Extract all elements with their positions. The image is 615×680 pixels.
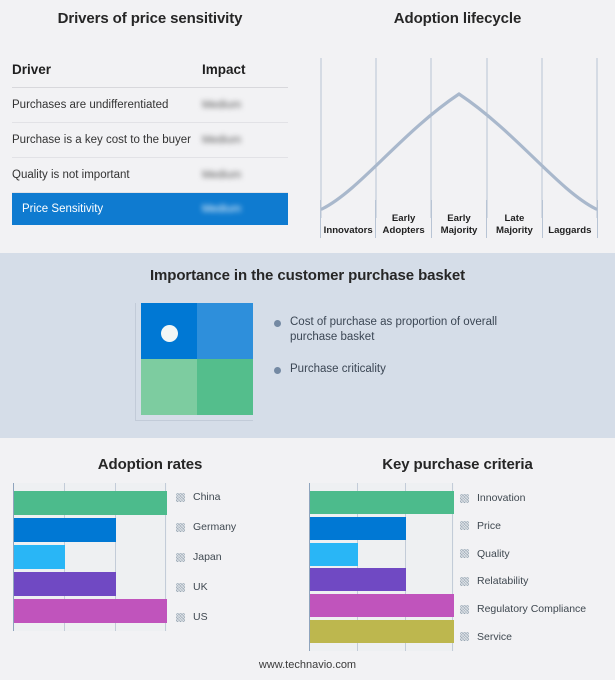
lifecycle-stage-early-majority: Early Majority (432, 200, 487, 238)
lifecycle-stage-laggards: Laggards (543, 200, 598, 238)
adoption-rates-title: Adoption rates (0, 456, 300, 473)
legend-label-uk: UK (193, 581, 208, 593)
bar-row (310, 491, 454, 514)
bar-price[interactable] (310, 517, 406, 540)
legend-swatch-icon (176, 613, 185, 622)
quadrant-matrix (141, 303, 253, 415)
legend-swatch-icon (176, 553, 185, 562)
lifecycle-panel-title: Adoption lifecycle (300, 10, 615, 27)
impact-value-redacted: Medium (202, 134, 241, 146)
bell-curve-svg (320, 58, 598, 218)
list-item[interactable]: Innovation (460, 492, 610, 504)
purchase-basket-band: Importance in the customer purchase bask… (0, 253, 615, 438)
bell-curve-path (322, 94, 596, 209)
legend-label-china: China (193, 491, 220, 503)
drivers-table: Driver Impact Purchases are undifferenti… (12, 62, 288, 225)
adoption-lifecycle-panel: Adoption lifecycle Innovators Early Adop… (300, 0, 615, 250)
list-item[interactable]: Quality (460, 548, 610, 560)
criteria-bars (310, 491, 454, 643)
list-item[interactable]: Price (460, 520, 610, 532)
bar-china[interactable] (14, 491, 167, 515)
bar-row (310, 594, 454, 617)
drivers-panel-title: Drivers of price sensitivity (0, 10, 300, 27)
key-purchase-criteria-title: Key purchase criteria (300, 456, 615, 473)
adoption-lifecycle-curve-chart (320, 58, 598, 218)
impact-cell: Medium (202, 158, 288, 193)
quadrant-top-right[interactable] (197, 303, 253, 359)
impact-cell: Medium (202, 123, 288, 158)
impact-value-redacted: Medium (202, 169, 241, 181)
impact-cell: Medium (202, 193, 288, 226)
table-row[interactable]: Purchase is a key cost to the buyer Medi… (12, 123, 288, 158)
legend-label-innovation: Innovation (477, 492, 525, 504)
list-item[interactable]: China (176, 491, 286, 503)
legend-label-price: Price (477, 520, 501, 532)
basket-legend: Cost of purchase as proportion of overal… (274, 315, 594, 394)
bar-row (14, 572, 167, 596)
legend-label-relatability: Relatability (477, 575, 528, 587)
bar-row (310, 517, 454, 540)
driver-cell: Price Sensitivity (12, 193, 202, 226)
bar-quality[interactable] (310, 543, 358, 566)
list-item[interactable]: Regulatory Compliance (460, 603, 610, 615)
driver-cell: Purchases are undifferentiated (12, 88, 202, 123)
list-item[interactable]: UK (176, 581, 286, 593)
basket-legend-label: Cost of purchase as proportion of overal… (290, 315, 505, 345)
adoption-rates-legend: China Germany Japan UK US (176, 491, 286, 623)
lifecycle-stage-early-adopters: Early Adopters (376, 200, 431, 238)
lifecycle-stage-late-majority: Late Majority (487, 200, 542, 238)
legend-label-service: Service (477, 631, 512, 643)
impact-value-redacted: Medium (202, 203, 241, 215)
list-item: Purchase criticality (274, 362, 594, 377)
adoption-rates-panel: Adoption rates (0, 438, 300, 680)
legend-swatch-icon (460, 521, 469, 530)
bar-regulatory-compliance[interactable] (310, 594, 454, 617)
bar-row (310, 620, 454, 643)
quadrant-bottom-left[interactable] (141, 359, 197, 415)
lifecycle-stage-innovators: Innovators (320, 200, 376, 238)
basket-panel-title: Importance in the customer purchase bask… (0, 267, 615, 284)
bar-innovation[interactable] (310, 491, 454, 514)
legend-swatch-icon (460, 632, 469, 641)
column-header-impact: Impact (202, 62, 288, 88)
lifecycle-stage-labels: Innovators Early Adopters Early Majority… (320, 200, 598, 238)
bar-japan[interactable] (14, 545, 65, 569)
bar-row (310, 568, 454, 591)
table-row[interactable]: Quality is not important Medium (12, 158, 288, 193)
infographic-root: Drivers of price sensitivity Driver Impa… (0, 0, 615, 680)
key-purchase-criteria-panel: Key purchase criteria (300, 438, 615, 680)
list-item[interactable]: Germany (176, 521, 286, 533)
adoption-rates-bars (14, 491, 167, 623)
drivers-of-price-sensitivity-panel: Drivers of price sensitivity Driver Impa… (0, 0, 300, 250)
legend-swatch-icon (460, 549, 469, 558)
quadrant-bottom-right[interactable] (197, 359, 253, 415)
table-row-highlighted[interactable]: Price Sensitivity Medium (12, 193, 288, 226)
legend-label-japan: Japan (193, 551, 222, 563)
bar-row (14, 599, 167, 623)
impact-value-redacted: Medium (202, 99, 241, 111)
adoption-rates-plot-area (13, 483, 167, 631)
impact-cell: Medium (202, 88, 288, 123)
criteria-plot-area (309, 483, 454, 651)
basket-legend-label: Purchase criticality (290, 362, 386, 377)
bar-germany[interactable] (14, 518, 116, 542)
legend-swatch-icon (460, 605, 469, 614)
list-item: Cost of purchase as proportion of overal… (274, 315, 594, 345)
bar-row (14, 491, 167, 515)
bar-us[interactable] (14, 599, 167, 623)
drivers-table-header-row: Driver Impact (12, 62, 288, 88)
bar-row (14, 545, 167, 569)
bullet-dot-icon (274, 367, 281, 374)
bar-uk[interactable] (14, 572, 116, 596)
bar-row (310, 543, 454, 566)
legend-swatch-icon (176, 523, 185, 532)
key-purchase-criteria-legend: Innovation Price Quality Relatability Re… (460, 492, 610, 643)
bar-row (14, 518, 167, 542)
legend-label-us: US (193, 611, 208, 623)
column-header-driver: Driver (12, 62, 202, 88)
list-item[interactable]: Service (460, 631, 610, 643)
bar-service[interactable] (310, 620, 454, 643)
bar-relatability[interactable] (310, 568, 406, 591)
drivers-table-body: Purchases are undifferentiated Medium Pu… (12, 88, 288, 226)
legend-label-regulatory-compliance: Regulatory Compliance (477, 603, 586, 615)
quadrant-matrix-frame (135, 303, 253, 421)
legend-swatch-icon (460, 494, 469, 503)
driver-cell: Purchase is a key cost to the buyer (12, 123, 202, 158)
bullet-dot-icon (274, 320, 281, 327)
position-marker-dot (161, 325, 178, 342)
legend-label-germany: Germany (193, 521, 236, 533)
legend-swatch-icon (176, 493, 185, 502)
driver-cell: Quality is not important (12, 158, 202, 193)
list-item[interactable]: Japan (176, 551, 286, 563)
legend-label-quality: Quality (477, 548, 510, 560)
footer-url[interactable]: www.technavio.com (0, 659, 615, 671)
legend-swatch-icon (460, 577, 469, 586)
list-item[interactable]: Relatability (460, 575, 610, 587)
table-row[interactable]: Purchases are undifferentiated Medium (12, 88, 288, 123)
drivers-table-head: Driver Impact (12, 62, 288, 88)
legend-swatch-icon (176, 583, 185, 592)
list-item[interactable]: US (176, 611, 286, 623)
